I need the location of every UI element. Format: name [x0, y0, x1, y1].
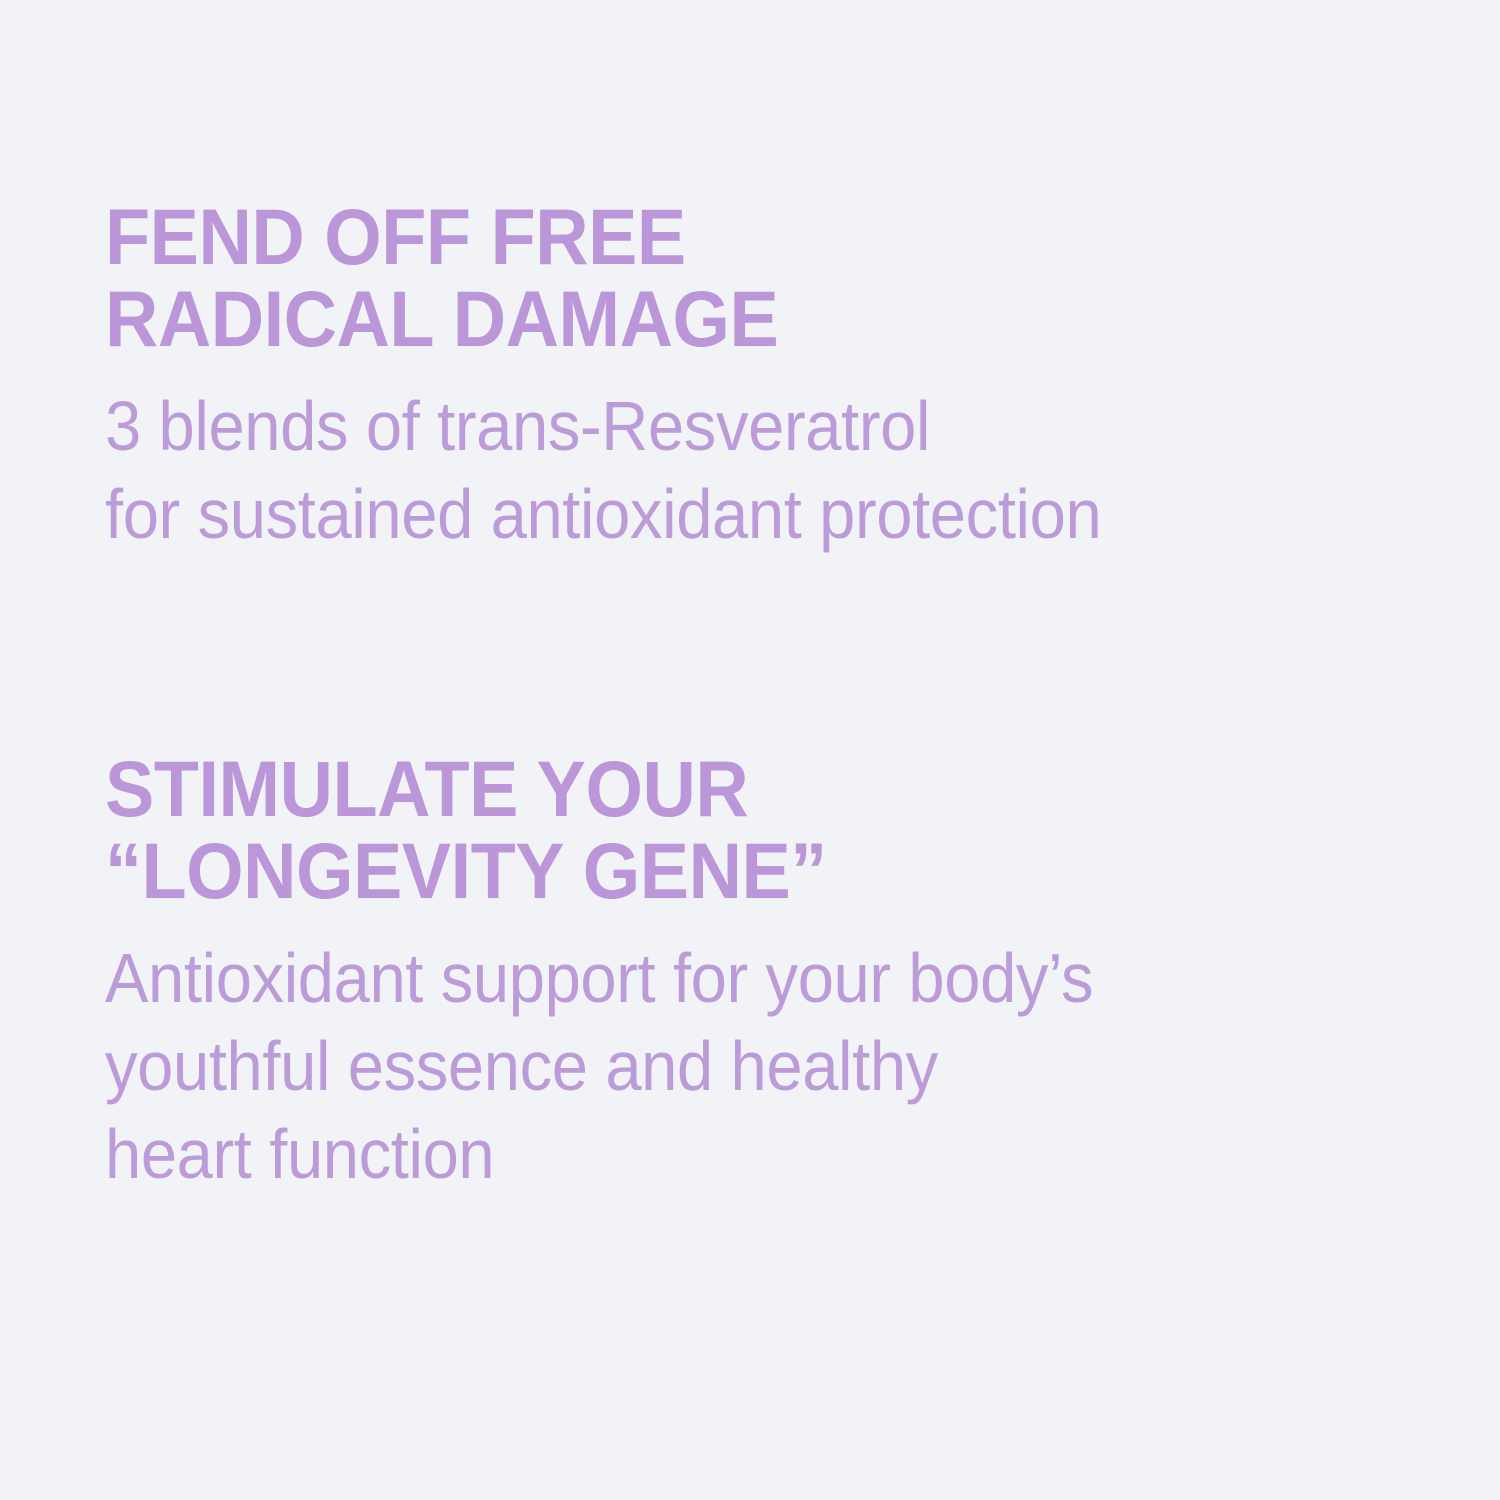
- benefit-heading-longevity-gene: STIMULATE YOUR “LONGEVITY GENE”: [105, 748, 1344, 912]
- benefit-heading-free-radical: FEND OFF FREE RADICAL DAMAGE: [105, 196, 1344, 360]
- benefit-block-free-radical: FEND OFF FREE RADICAL DAMAGE 3 blends of…: [105, 196, 1430, 558]
- benefit-description-longevity-gene: Antioxidant support for your body’s yout…: [105, 912, 1337, 1198]
- benefit-description-free-radical: 3 blends of trans-Resveratrol for sustai…: [105, 360, 1337, 558]
- benefit-block-longevity-gene: STIMULATE YOUR “LONGEVITY GENE” Antioxid…: [105, 748, 1430, 1198]
- benefits-panel: FEND OFF FREE RADICAL DAMAGE 3 blends of…: [0, 0, 1500, 1500]
